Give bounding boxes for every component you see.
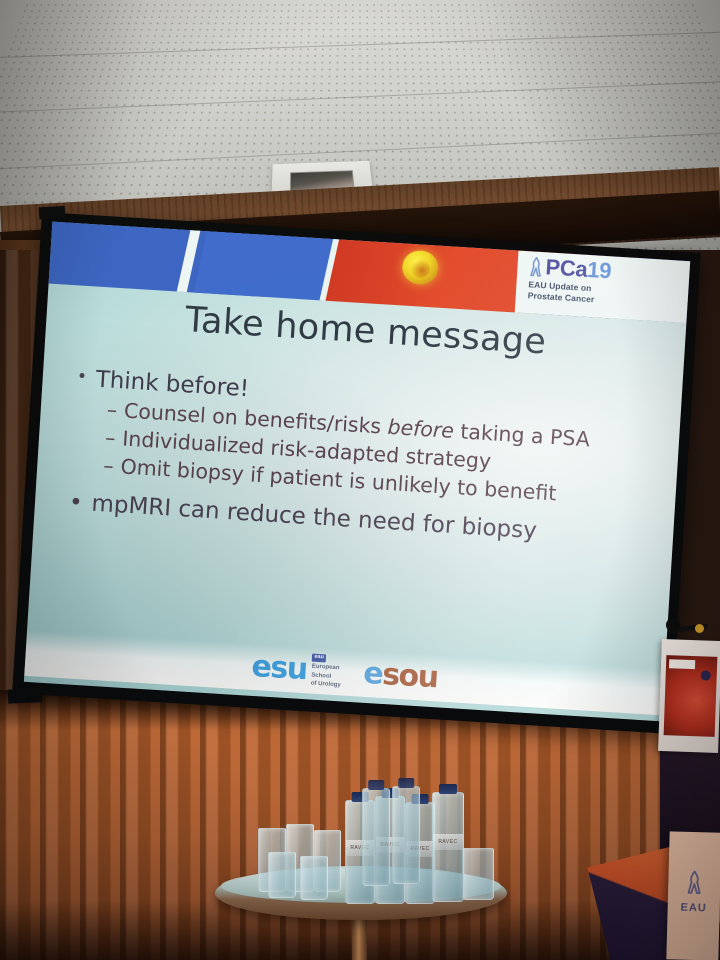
podium-poster [658,639,720,753]
water-glass [268,852,296,898]
esu-tagline-line3: of Urology [311,681,341,689]
esu-tagline: eau European School of Urology [310,653,342,691]
esu-wordmark: esu [251,652,308,685]
bullet-marker: – [104,425,116,450]
screen-frame: PCa19 EAU Update on Prostate Cancer Take… [12,212,701,734]
awareness-ribbon-icon [686,870,703,894]
bullet-text: Think before! [95,367,250,402]
bullet-text-emphasis: before [387,415,455,443]
poster-badge [669,659,695,669]
slide-surface: PCa19 EAU Update on Prostate Cancer Take… [24,222,690,722]
screen-corner-tab [8,688,43,703]
bullet-text-after: taking a PSA [453,419,590,451]
water-bottle [392,786,420,884]
bullet-marker: • [76,365,87,389]
eau-badge: eau [312,654,326,663]
esu-logo: esu eau European School of Urology [250,649,342,691]
bullet-marker: – [106,397,118,422]
eau-side-banner: EAU [666,831,720,960]
microphone-icon [668,614,708,640]
microphone-light [695,624,704,633]
screen-corner-tab [39,206,66,220]
projection-screen: PCa19 EAU Update on Prostate Cancer Take… [10,212,717,773]
banner-blue-panel [192,227,338,308]
bullet-marker: – [103,453,115,478]
water-bottle [362,788,390,886]
esu-tagline-line2: School [311,672,331,679]
water-glass [300,856,328,900]
bottle-cap [439,784,457,794]
slide-bullet-list: • Think before! – Counsel on benefits/ri… [68,365,659,551]
bullet-marker: • [68,489,83,516]
eau-banner-text: EAU [668,901,720,914]
water-bottle: RAVEC [432,792,464,902]
esou-logo: esou [363,659,439,694]
bottle-label: RAVEC [433,834,463,850]
microphone-head [666,618,680,632]
conference-room-photo: PCa19 EAU Update on Prostate Cancer Take… [0,0,720,960]
slide-footer-logos: esu eau European School of Urology esou [24,630,665,715]
water-glass [462,848,494,900]
awareness-ribbon-icon [529,256,543,277]
pca19-wordmark: PCa19 [545,256,612,282]
pca19-logo: PCa19 EAU Update on Prostate Cancer [527,255,680,311]
bottle-cap [368,780,384,790]
esou-rest: sou [381,657,438,695]
bottle-cap [398,778,414,788]
esu-tagline-line1: European [312,664,340,672]
